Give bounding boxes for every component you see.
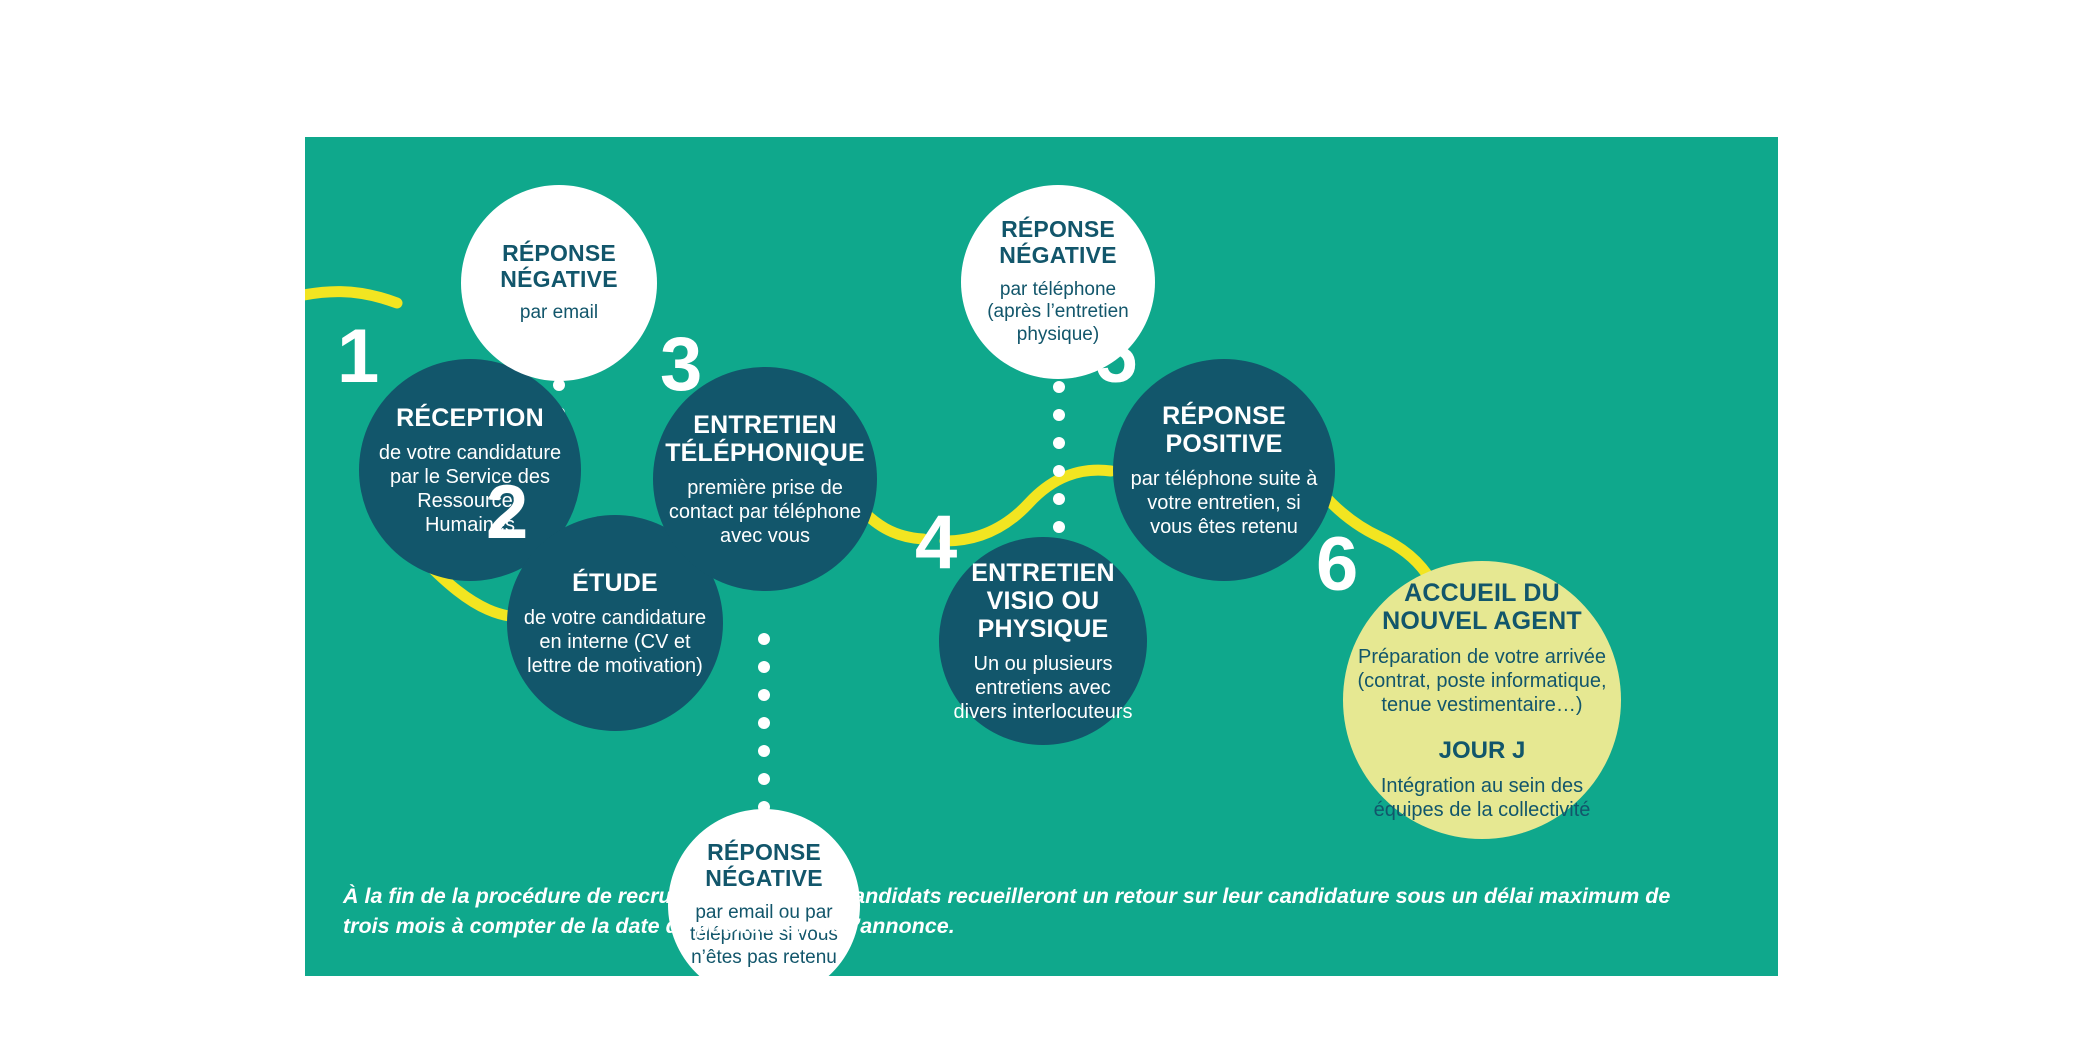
step-number-5: 5 <box>1095 319 1135 395</box>
step-body: Préparation de votre arrivée (contrat, p… <box>1357 645 1607 717</box>
step-title: ENTRETIEN TÉLÉPHONIQUE <box>665 411 865 467</box>
note-circle-reponse-negative-1[interactable]: RÉPONSE NÉGATIVE par email <box>461 185 657 381</box>
note-title: RÉPONSE NÉGATIVE <box>975 217 1141 269</box>
step-title: ACCUEIL DU NOUVEL AGENT <box>1357 579 1607 635</box>
connector-entry <box>305 292 397 303</box>
step-circle-entretien-visio[interactable]: ENTRETIEN VISIO OU PHYSIQUE Un ou plusie… <box>939 537 1147 745</box>
connector-4-to-5 <box>945 470 1111 541</box>
dotted-connector-note2 <box>1053 381 1065 561</box>
step-subtitle: JOUR J <box>1439 737 1526 765</box>
step-title: ENTRETIEN VISIO OU PHYSIQUE <box>953 559 1133 643</box>
recruitment-process-panel: 1 RÉCEPTION de votre candidature par le … <box>305 137 1778 976</box>
step-number-2: 2 <box>486 475 526 551</box>
step-title: RÉPONSE POSITIVE <box>1127 402 1321 458</box>
step-number-4: 4 <box>915 505 955 581</box>
step-body: par téléphone suite à votre entretien, s… <box>1127 467 1321 539</box>
note-body: par email <box>520 302 598 325</box>
step-body: Un ou plusieurs entretiens avec divers i… <box>953 652 1133 724</box>
dotted-connector-note3 <box>758 633 770 813</box>
note-title: RÉPONSE NÉGATIVE <box>475 241 643 293</box>
step-circle-accueil-nouvel-agent[interactable]: ACCUEIL DU NOUVEL AGENT Préparation de v… <box>1343 561 1621 839</box>
footnote-text: À la fin de la procédure de recrutement,… <box>343 881 1673 942</box>
step-number-6: 6 <box>1316 527 1356 603</box>
step-circle-entretien-telephonique[interactable]: ENTRETIEN TÉLÉPHONIQUE première prise de… <box>653 367 877 591</box>
step-body-secondary: Intégration au sein des équipes de la co… <box>1357 774 1607 822</box>
infographic-stage: 1 RÉCEPTION de votre candidature par le … <box>0 0 2083 1042</box>
step-body: de votre candidature en interne (CV et l… <box>521 606 709 678</box>
step-circle-reponse-positive[interactable]: RÉPONSE POSITIVE par téléphone suite à v… <box>1113 359 1335 581</box>
step-title: ÉTUDE <box>572 569 658 597</box>
step-title: RÉCEPTION <box>396 404 544 432</box>
step-body: première prise de contact par téléphone … <box>667 476 863 548</box>
step-body: de votre candidature par le Service des … <box>373 441 567 537</box>
step-number-1: 1 <box>337 319 377 395</box>
